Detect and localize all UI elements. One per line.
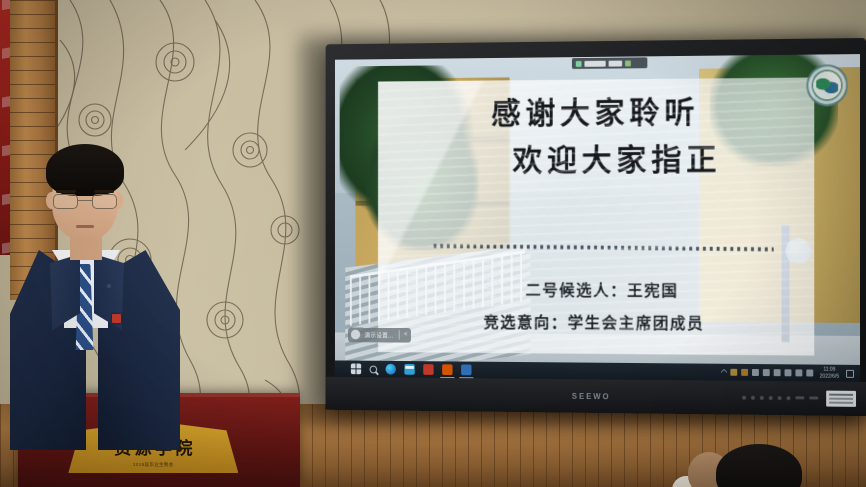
mouth <box>76 225 94 228</box>
powerpoint-icon[interactable] <box>442 364 452 375</box>
eyebrow-right <box>94 190 114 193</box>
slide-subtitle-block: 二号候选人：王宪国 竞选意向：学生会主席团成员 <box>378 276 814 334</box>
start-icon[interactable] <box>351 363 361 374</box>
slide-headline-block: 感谢大家聆听 欢迎大家指正 <box>378 97 814 178</box>
taskbar-clock[interactable]: 11:09 2022/6/5 <box>820 367 839 380</box>
clock-date: 2022/6/5 <box>820 373 839 379</box>
pill-divider <box>399 330 400 340</box>
jacket-button <box>107 284 111 288</box>
slide-content-card: 感谢大家聆听 欢迎大家指正 二号候选人：王宪国 竞选意向：学生会主席团成员 <box>378 77 814 355</box>
display-ports <box>742 396 818 401</box>
clock-time: 11:09 <box>823 367 835 373</box>
display-brand-label: seewo <box>572 391 611 400</box>
tray-app-3-icon[interactable] <box>752 369 759 376</box>
slide-headline-line-1: 感谢大家聆听 <box>378 97 814 132</box>
network-icon[interactable] <box>762 369 769 376</box>
close-icon[interactable] <box>625 60 631 66</box>
notification-icon[interactable] <box>846 369 854 377</box>
app-red-icon[interactable] <box>423 364 433 375</box>
toolbar-label-b[interactable] <box>609 60 623 66</box>
record-icon[interactable] <box>576 60 582 66</box>
floating-annotation-toolbar[interactable] <box>572 57 647 69</box>
taskbar-app-icons <box>351 363 472 375</box>
slide-subtitle-line-1: 二号候选人：王宪国 <box>378 276 814 301</box>
slide-headline-line-2: 欢迎大家指正 <box>378 144 814 178</box>
presentation-settings-pill[interactable]: 演示设置… < <box>348 328 411 343</box>
seewo-interactive-display[interactable]: 感谢大家聆听 欢迎大家指正 二号候选人：王宪国 竞选意向：学生会主席团成员 <box>326 38 866 416</box>
collapse-icon[interactable]: < <box>404 332 408 338</box>
display-icon[interactable] <box>773 369 780 376</box>
app-blue-icon[interactable] <box>461 364 471 375</box>
display-spec-sticker <box>826 391 856 407</box>
party-badge-pin <box>112 314 121 323</box>
slide-subtitle-line-2: 竞选意向：学生会主席团成员 <box>378 308 814 334</box>
volume-icon[interactable] <box>784 369 791 376</box>
presentation-settings-label: 演示设置… <box>365 331 394 340</box>
taskbar-system-tray: 11:09 2022/6/5 <box>721 366 854 380</box>
eyeglasses <box>53 194 117 209</box>
lens-left <box>53 194 78 209</box>
podium-plaque-subtitle: 2019届毕业生晚会 <box>133 462 174 468</box>
bluetooth-icon[interactable] <box>795 369 802 376</box>
glasses-bridge <box>78 200 92 201</box>
tray-app-2-icon[interactable] <box>741 369 748 376</box>
display-screen[interactable]: 感谢大家聆听 欢迎大家指正 二号候选人：王宪国 竞选意向：学生会主席团成员 <box>335 54 860 382</box>
slide-dotted-divider <box>434 244 774 251</box>
toolbar-label-a[interactable] <box>585 60 606 66</box>
ime-icon[interactable] <box>806 369 813 376</box>
speaker-person <box>8 138 208 428</box>
tray-app-1-icon[interactable] <box>730 369 737 376</box>
mail-icon[interactable] <box>404 364 414 375</box>
display-chin: seewo <box>326 377 866 416</box>
scene-photograph: 感谢大家聆听 欢迎大家指正 二号候选人：王宪国 竞选意向：学生会主席团成员 <box>0 0 866 487</box>
eyebrow-left <box>56 190 76 193</box>
lens-right <box>92 194 117 209</box>
edge-browser-icon[interactable] <box>386 364 396 375</box>
hair <box>46 144 124 196</box>
presenter-icon[interactable] <box>350 330 359 340</box>
chevron-up-icon[interactable] <box>720 369 727 376</box>
search-icon[interactable] <box>370 365 378 373</box>
